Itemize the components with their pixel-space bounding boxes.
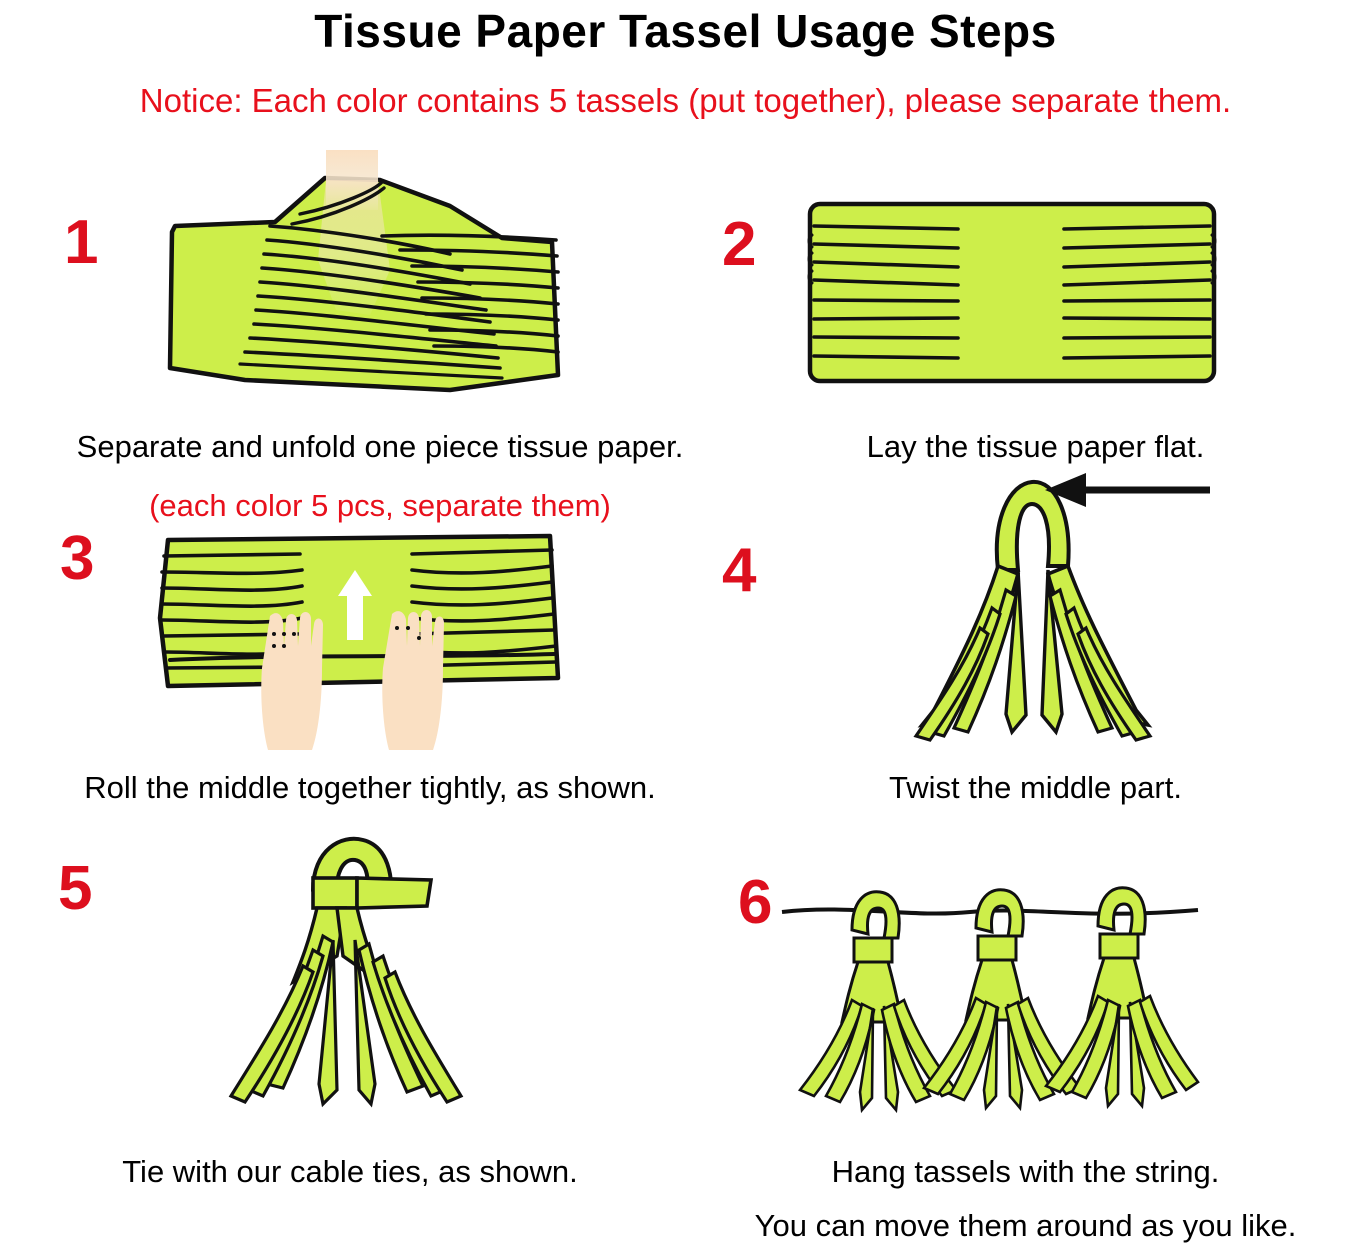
step-5-illustration <box>205 832 535 1137</box>
instruction-sheet: Tissue Paper Tassel Usage Steps Notice: … <box>0 0 1371 1254</box>
step-1-caption-sub: (each color 5 pcs, separate them) <box>0 486 760 526</box>
step-3-illustration <box>150 528 570 758</box>
step-6-illustration <box>780 882 1200 1132</box>
notice-text: Notice: Each color contains 5 tassels (p… <box>0 82 1371 120</box>
step-number-6: 6 <box>738 872 772 934</box>
step-number-5: 5 <box>58 858 92 920</box>
step-6-caption-sub: You can move them around as you like. <box>680 1206 1371 1246</box>
step-6-caption: Hang tassels with the string. <box>680 1152 1371 1192</box>
step-4-illustration <box>880 470 1220 765</box>
step-1-caption: Separate and unfold one piece tissue pap… <box>0 427 760 467</box>
step-2-caption: Lay the tissue paper flat. <box>700 427 1371 467</box>
hanging-tassel <box>1046 888 1198 1106</box>
step-number-2: 2 <box>722 214 756 276</box>
step-2-illustration <box>806 200 1218 390</box>
step-number-3: 3 <box>60 528 94 590</box>
pointer-arrow <box>1045 473 1210 507</box>
step-4-caption: Twist the middle part. <box>700 768 1371 808</box>
page-title: Tissue Paper Tassel Usage Steps <box>0 4 1371 58</box>
step-5-caption: Tie with our cable ties, as shown. <box>0 1152 700 1192</box>
step-1-illustration <box>150 150 580 405</box>
step-3-caption: Roll the middle together tightly, as sho… <box>0 768 740 808</box>
cable-tie <box>313 878 431 908</box>
step-number-1: 1 <box>64 212 98 274</box>
step-number-4: 4 <box>722 540 756 602</box>
